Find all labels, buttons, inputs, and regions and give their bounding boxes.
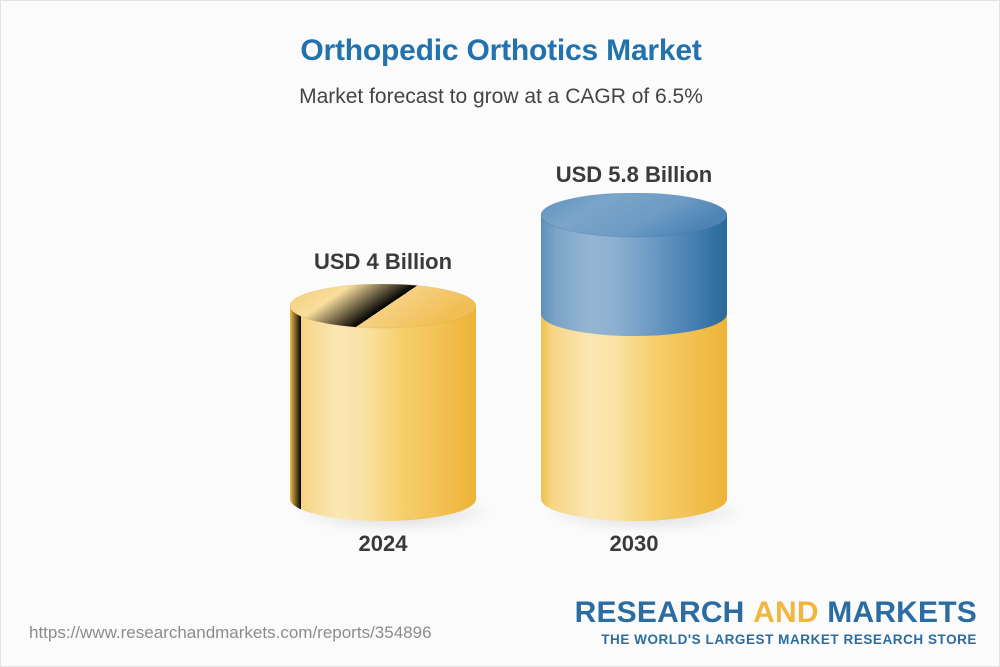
cylinder-2030-svg (541, 193, 727, 529)
logo-word-markets: MARKETS (827, 596, 977, 629)
logo-wordmark: RESEARCH AND MARKETS (575, 597, 977, 629)
logo-tagline: THE WORLD'S LARGEST MARKET RESEARCH STOR… (575, 629, 977, 648)
logo-word-and: AND (753, 596, 819, 629)
logo-word-research: RESEARCH (575, 596, 745, 629)
chart-card: Orthopedic Orthotics Market Market forec… (0, 0, 1000, 667)
bar-group-2030: USD 5.8 Billion (541, 1, 727, 667)
value-label-2030: USD 5.8 Billion (541, 162, 727, 188)
cylinder-2024 (290, 284, 476, 529)
value-label-2024: USD 4 Billion (290, 249, 476, 275)
source-url[interactable]: https://www.researchandmarkets.com/repor… (29, 622, 432, 644)
bar-group-2024: USD 4 Billion (290, 1, 476, 667)
cylinder-2024-svg (290, 284, 476, 529)
plot-area: USD 4 Billion (1, 1, 1000, 667)
category-label-2024: 2024 (290, 531, 476, 557)
brand-logo[interactable]: RESEARCH AND MARKETS THE WORLD'S LARGEST… (575, 597, 977, 648)
cylinder-2030 (541, 193, 727, 529)
category-label-2030: 2030 (541, 531, 727, 557)
